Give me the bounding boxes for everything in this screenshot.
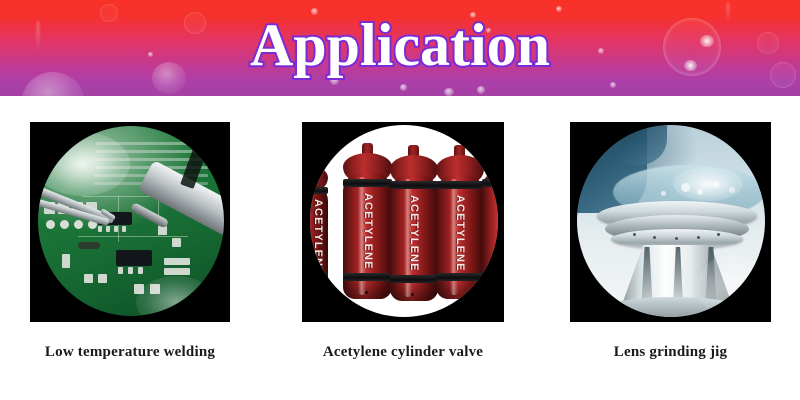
pcb-pad xyxy=(122,226,126,232)
pcb-soldering-image xyxy=(38,126,224,316)
card-caption: Acetylene cylinder valve xyxy=(302,344,504,361)
application-section: Application xyxy=(0,0,800,400)
cylinder-band xyxy=(343,273,392,281)
lens-grinding-jig-image xyxy=(577,125,765,317)
pcb-pad xyxy=(128,267,133,274)
pcb-pad xyxy=(106,226,110,232)
jig-bolt-hole xyxy=(633,233,636,236)
coolant-droplet xyxy=(697,189,703,195)
coolant-droplet xyxy=(729,187,735,193)
coolant-droplet xyxy=(681,183,690,192)
page-title: Application xyxy=(0,0,800,96)
cylinder-band xyxy=(390,275,438,283)
cylinder-valve-dot xyxy=(365,291,368,294)
jig-bolt-hole xyxy=(653,236,656,239)
card-acetylene-cylinder-valve[interactable]: ACETYLENE ACETYLENE xyxy=(302,122,504,322)
thumbnail-frame: ACETYLENE ACETYLENE xyxy=(302,122,504,322)
card-low-temperature-welding[interactable]: Low temperature welding xyxy=(30,122,230,322)
page-title-text: Application xyxy=(250,15,550,81)
coolant-droplet xyxy=(661,191,666,196)
machine-head xyxy=(621,125,667,165)
acetylene-cylinders-image: ACETYLENE ACETYLENE xyxy=(310,125,498,317)
pcb-pad xyxy=(164,268,190,275)
pcb-pad xyxy=(98,274,107,283)
thumbnail-frame xyxy=(570,122,771,322)
cylinder-band xyxy=(482,179,498,187)
card-caption: Lens grinding jig xyxy=(570,344,771,361)
pcb-pad xyxy=(114,226,118,232)
pcb-component xyxy=(78,242,100,249)
cylinder-label: ACETYLENE xyxy=(454,195,466,272)
application-cards: Low temperature welding ACETYLENE xyxy=(0,96,800,400)
pcb-hole xyxy=(74,220,83,229)
pcb-pad xyxy=(62,254,70,268)
jig-bolt-hole xyxy=(697,236,700,239)
cylinder-band xyxy=(390,181,438,189)
cylinder-label: ACETYLENE xyxy=(408,195,420,272)
cylinder-band xyxy=(482,271,498,279)
cylinder-valve-dot xyxy=(411,293,414,296)
card-caption: Low temperature welding xyxy=(30,344,230,361)
image-glare xyxy=(697,255,765,317)
coolant-droplet xyxy=(713,181,720,188)
image-glare xyxy=(38,132,130,196)
jig-bolt-hole xyxy=(717,233,720,236)
cylinder-band xyxy=(343,179,392,187)
header-banner: Application xyxy=(0,0,800,96)
cylinder-band xyxy=(436,181,484,189)
pcb-pad xyxy=(172,238,181,247)
thumbnail-frame xyxy=(30,122,230,322)
pcb-chip xyxy=(116,250,152,266)
pcb-hole xyxy=(46,220,55,229)
cylinder-label: ACETYLENE xyxy=(362,193,374,270)
cylinder-label: ACETYLENE xyxy=(312,199,324,276)
pcb-pad xyxy=(138,267,143,274)
pcb-pad xyxy=(164,258,190,265)
pcb-pad xyxy=(98,226,102,232)
pcb-trace xyxy=(78,236,188,237)
pcb-pad xyxy=(118,267,123,274)
cylinder-band xyxy=(436,273,484,281)
pcb-pad xyxy=(84,274,93,283)
card-lens-grinding-jig[interactable]: Lens grinding jig xyxy=(570,122,771,322)
cylinder-band xyxy=(310,187,328,194)
pcb-hole xyxy=(60,220,69,229)
jig-bolt-hole xyxy=(675,237,678,240)
